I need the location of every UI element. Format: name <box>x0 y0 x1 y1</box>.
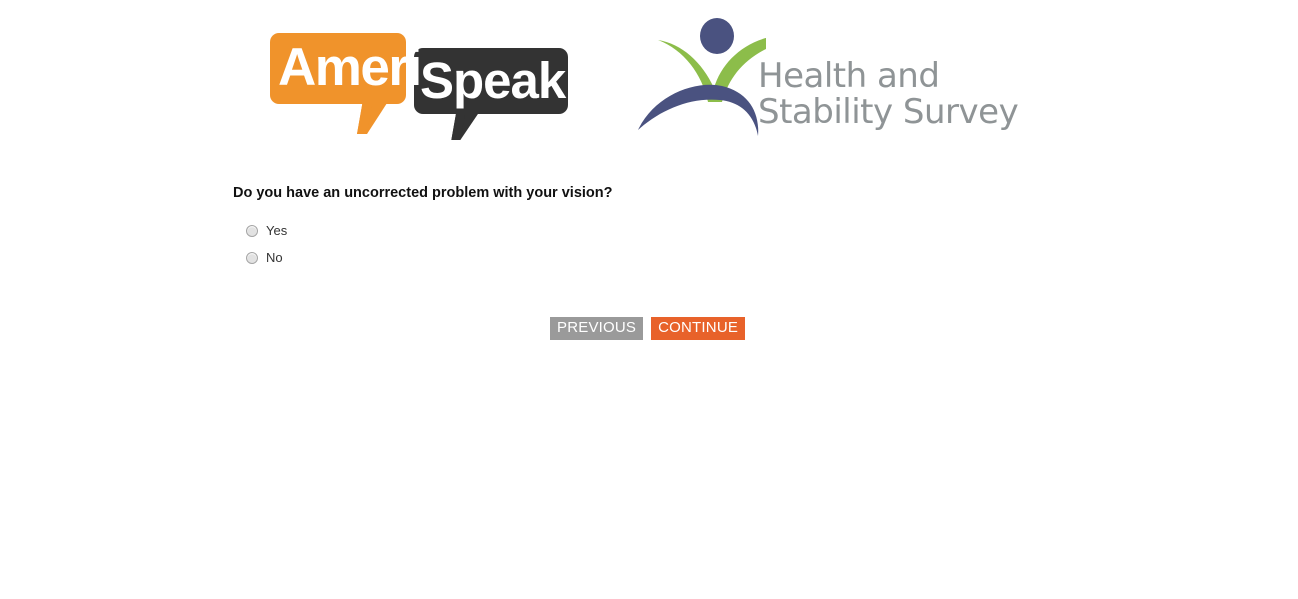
option-yes[interactable]: Yes <box>246 222 287 240</box>
radio-yes[interactable] <box>246 225 258 237</box>
option-no[interactable]: No <box>246 249 287 267</box>
question-text: Do you have an uncorrected problem with … <box>233 184 612 202</box>
survey-header: Ameri Speak Health and Stability Survey <box>0 0 1298 150</box>
amerispeak-word-ameri: Ameri <box>278 38 421 98</box>
person-figure-icon <box>636 14 766 136</box>
amerispeak-word-speak: Speak <box>420 52 565 110</box>
health-stability-survey-logo: Health and Stability Survey <box>636 14 1036 139</box>
answer-options: Yes No <box>246 222 287 276</box>
option-label-no: No <box>266 250 283 266</box>
survey-logo-line1: Health and <box>758 56 939 96</box>
survey-logo-text: Health and Stability Survey <box>758 58 1018 130</box>
continue-button[interactable]: CONTINUE <box>651 317 745 340</box>
option-label-yes: Yes <box>266 223 287 239</box>
navigation-buttons: PREVIOUS CONTINUE <box>550 317 745 340</box>
radio-no[interactable] <box>246 252 258 264</box>
amerispeak-logo: Ameri Speak <box>268 30 573 140</box>
previous-button[interactable]: PREVIOUS <box>550 317 643 340</box>
speech-bubble-tail-orange-icon <box>357 100 389 134</box>
survey-logo-line2: Stability Survey <box>758 94 1018 130</box>
speech-bubble-tail-dark-icon <box>451 110 480 140</box>
